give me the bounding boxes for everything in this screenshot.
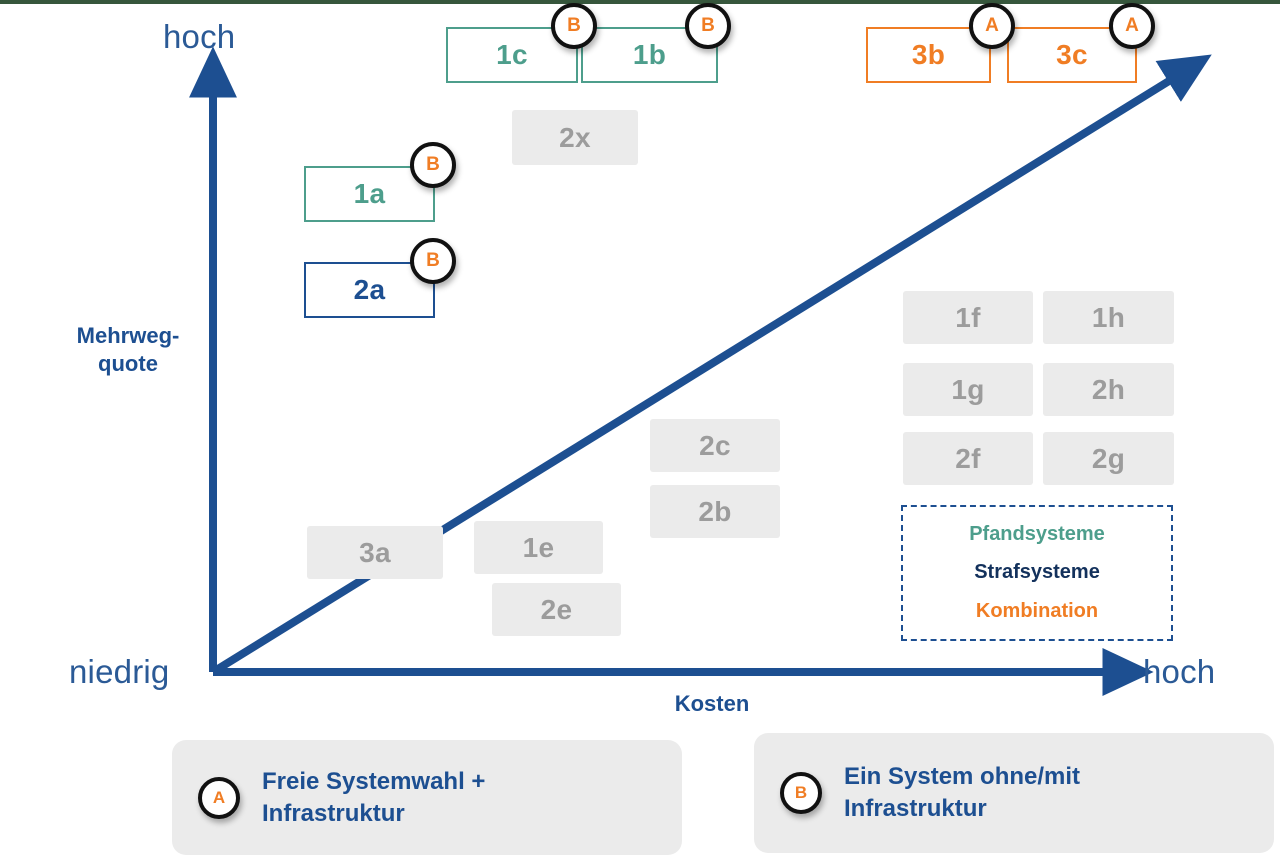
- key-text-a: Freie Systemwahl + Infrastruktur: [262, 766, 485, 830]
- key-badge-b: B: [780, 772, 822, 814]
- system-box-1g: 1g: [903, 363, 1033, 416]
- system-box-2f: 2f: [903, 432, 1033, 485]
- badge-B-for-1c: B: [551, 3, 597, 49]
- y-axis-low-label: niedrig: [69, 653, 169, 691]
- system-box-2b: 2b: [650, 485, 780, 538]
- legend-item-pfandsysteme: Pfandsysteme: [969, 523, 1105, 546]
- system-box-1f: 1f: [903, 291, 1033, 344]
- system-type-legend: Pfandsysteme Strafsysteme Kombination: [901, 505, 1173, 641]
- badge-B-for-1a: B: [410, 142, 456, 188]
- badge-B-for-2a: B: [410, 238, 456, 284]
- system-box-3a: 3a: [307, 526, 443, 579]
- system-box-2c: 2c: [650, 419, 780, 472]
- system-box-1h: 1h: [1043, 291, 1174, 344]
- key-card-b: B Ein System ohne/mit Infrastruktur: [754, 733, 1274, 853]
- legend-item-kombination: Kombination: [976, 600, 1098, 623]
- badge-A-for-3c: A: [1109, 3, 1155, 49]
- key-text-b: Ein System ohne/mit Infrastruktur: [844, 761, 1080, 825]
- system-box-1e: 1e: [474, 521, 603, 574]
- badge-B-for-1b: B: [685, 3, 731, 49]
- key-card-a: A Freie Systemwahl + Infrastruktur: [172, 740, 682, 855]
- system-box-2g: 2g: [1043, 432, 1174, 485]
- diagram-canvas: hoch niedrig hoch Mehrweg- quote Kosten …: [0, 0, 1280, 866]
- y-axis-title: Mehrweg- quote: [58, 322, 198, 378]
- system-box-2h: 2h: [1043, 363, 1174, 416]
- badge-A-for-3b: A: [969, 3, 1015, 49]
- y-axis-high-label: hoch: [163, 18, 235, 56]
- key-badge-a: A: [198, 777, 240, 819]
- system-box-2x: 2x: [512, 110, 638, 165]
- system-box-2e: 2e: [492, 583, 621, 636]
- legend-item-strafsysteme: Strafsysteme: [974, 561, 1100, 584]
- x-axis-title: Kosten: [612, 690, 812, 718]
- x-axis-high-label: hoch: [1143, 653, 1215, 691]
